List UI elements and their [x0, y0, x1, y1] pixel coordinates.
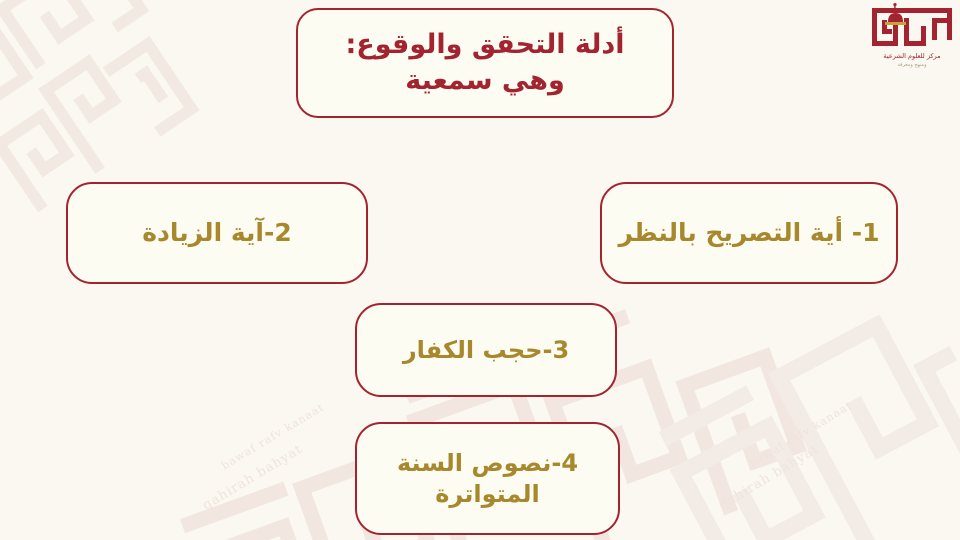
logo-subtitle: مركز للعلوم الشرعية	[866, 52, 958, 62]
logo-wordmark-ihkam	[866, 2, 958, 52]
item-box-4-line-2: المتواترة	[397, 479, 578, 510]
slide-title-box: أدلة التحقق والوقوع: وهي سمعية	[296, 8, 674, 118]
slide-title-line-2: وهي سمعية	[345, 63, 624, 99]
item-box-4[interactable]: 4-نصوص السنة المتواترة	[355, 422, 620, 535]
item-box-2-label: 2-آية الزيادة	[132, 217, 301, 249]
slide-title-text: أدلة التحقق والوقوع: وهي سمعية	[335, 27, 634, 98]
watermark-script-2: bawaf rafv kanaat	[219, 401, 326, 473]
item-box-3[interactable]: 3-حجب الكفار	[355, 303, 617, 397]
logo-subtitle-secondary: ومنهج ومعرفة	[866, 62, 958, 70]
kufic-watermark-bottom-right	[614, 239, 960, 540]
item-box-1[interactable]: 1- أية التصريح بالنظر	[600, 182, 898, 284]
item-box-2[interactable]: 2-آية الزيادة	[66, 182, 368, 284]
item-box-4-line-1: 4-نصوص السنة	[397, 448, 578, 479]
item-box-4-label: 4-نصوص السنة المتواترة	[387, 448, 588, 509]
slide-canvas: qahirah bahyat bawaf rafv kanaat qahirah…	[0, 0, 960, 540]
watermark-script-4: bawaf rafv kanaat	[747, 399, 854, 471]
slide-title-line-1: أدلة التحقق والوقوع:	[345, 27, 624, 63]
item-box-1-label: 1- أية التصريح بالنظر	[608, 217, 889, 249]
mosque-dome-icon	[885, 3, 906, 25]
item-box-3-label: 3-حجب الكفار	[393, 335, 579, 366]
watermark-script-3: qahirah bahyat	[716, 442, 821, 513]
watermark-script-1: qahirah bahyat	[200, 442, 305, 513]
brand-logo[interactable]: مركز للعلوم الشرعية ومنهج ومعرفة	[866, 2, 958, 76]
